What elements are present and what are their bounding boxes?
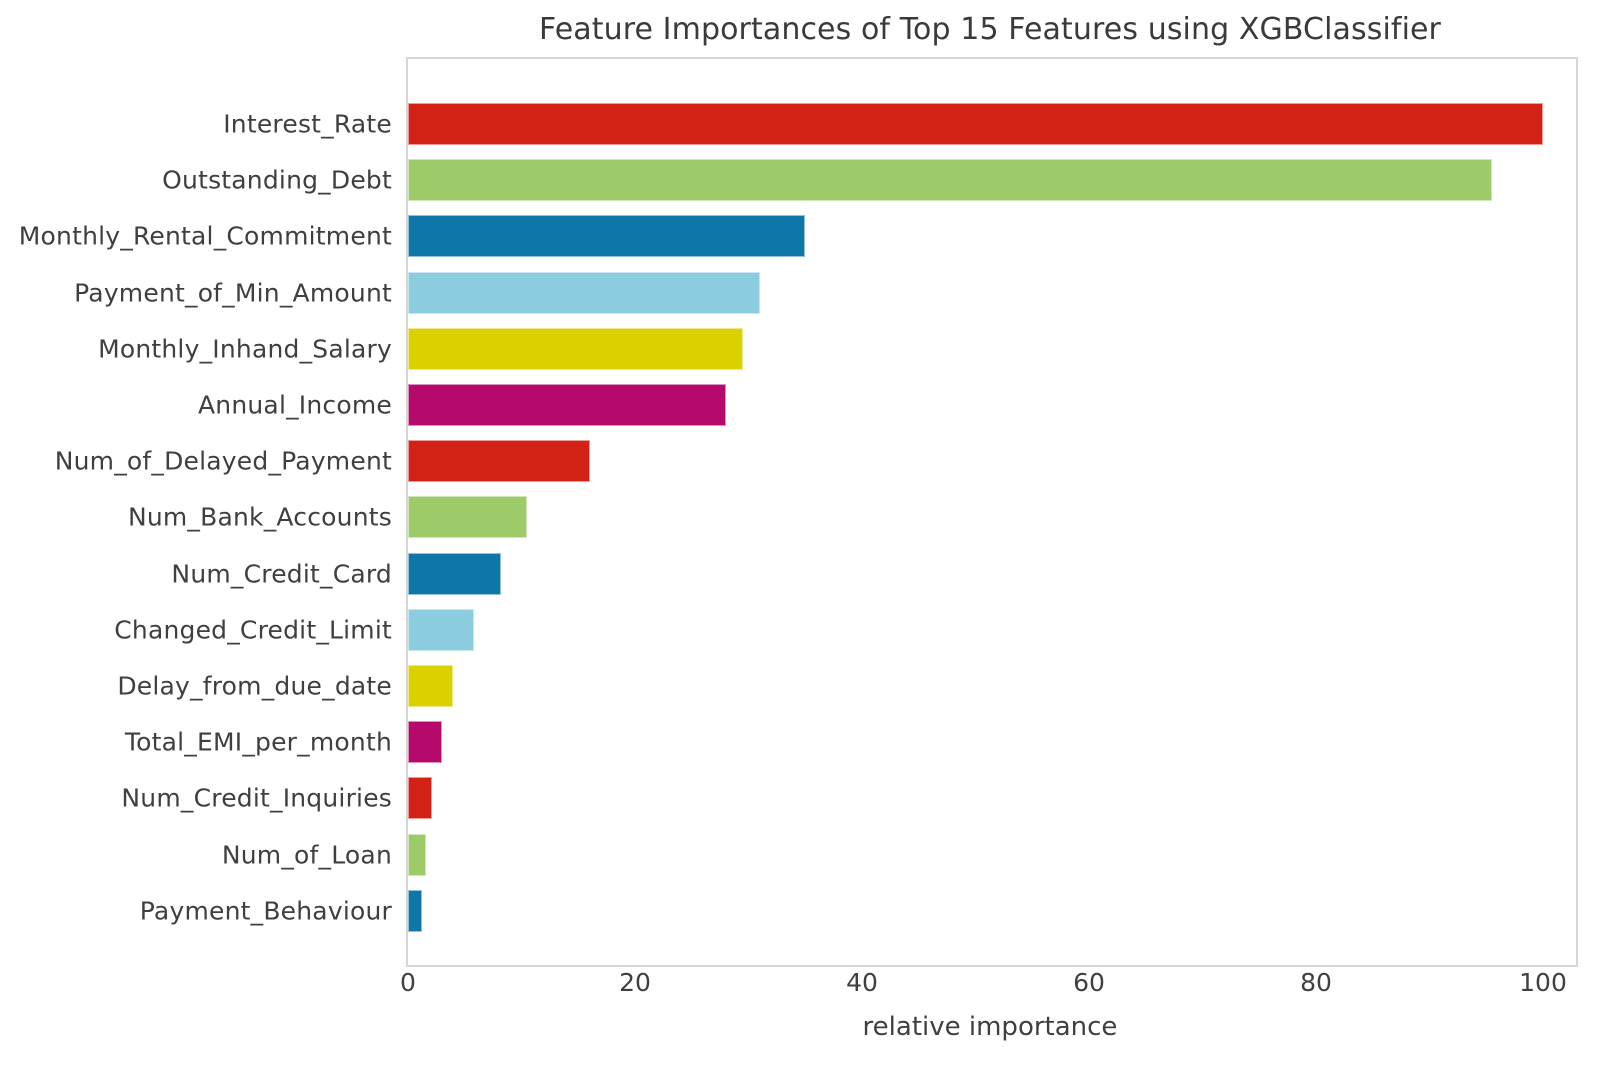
y-axis-tick-label: Interest_Rate (223, 110, 392, 139)
bar (408, 721, 442, 763)
bar (408, 384, 726, 426)
bar (408, 328, 743, 370)
x-axis-tick-label: 80 (1300, 968, 1332, 997)
y-axis-tick-label: Num_Credit_Inquiries (121, 784, 392, 813)
x-axis-label-text: relative importance (863, 1012, 1118, 1042)
y-axis-tick-label: Num_of_Loan (222, 840, 392, 869)
bar-row: Num_Credit_Card (0, 546, 1580, 602)
y-axis-tick-label: Num_of_Delayed_Payment (55, 447, 392, 476)
bar-row: Payment_Behaviour (0, 883, 1580, 939)
y-axis-tick-label: Outstanding_Debt (162, 166, 392, 195)
y-axis-tick-label: Payment_Behaviour (140, 896, 392, 925)
bar (408, 553, 501, 595)
x-axis-tick-label: 20 (619, 968, 651, 997)
bar (408, 103, 1543, 145)
x-axis-ticks: 020406080100 (0, 968, 1600, 1008)
y-axis-tick-label: Num_Credit_Card (171, 559, 392, 588)
x-axis-tick-label: 0 (400, 968, 416, 997)
y-axis-tick-label: Payment_of_Min_Amount (74, 278, 392, 307)
bar (408, 272, 760, 314)
y-axis-tick-label: Num_Bank_Accounts (128, 503, 392, 532)
y-axis-tick-label: Monthly_Inhand_Salary (98, 334, 392, 363)
bar (408, 215, 805, 257)
bar (408, 609, 474, 651)
bar-row: Annual_Income (0, 377, 1580, 433)
bar (408, 496, 527, 538)
y-axis-tick-label: Monthly_Rental_Commitment (19, 222, 392, 251)
bar-row: Num_of_Loan (0, 827, 1580, 883)
bar (408, 665, 453, 707)
bar (408, 440, 590, 482)
x-axis-tick-label: 100 (1519, 968, 1567, 997)
bar-row: Changed_Credit_Limit (0, 602, 1580, 658)
bar-row: Payment_of_Min_Amount (0, 265, 1580, 321)
x-axis-label: relative importance (0, 1012, 1600, 1042)
bar-row: Monthly_Inhand_Salary (0, 321, 1580, 377)
x-axis-tick-label: 60 (1073, 968, 1105, 997)
bar-row: Num_Bank_Accounts (0, 489, 1580, 545)
y-axis-tick-label: Changed_Credit_Limit (114, 615, 392, 644)
x-axis-tick-label: 40 (846, 968, 878, 997)
bar-rows: Interest_RateOutstanding_DebtMonthly_Ren… (0, 57, 1580, 967)
chart-page: Feature Importances of Top 15 Features u… (0, 0, 1600, 1085)
y-axis-tick-label: Total_EMI_per_month (125, 728, 392, 757)
y-axis-tick-label: Delay_from_due_date (117, 672, 392, 701)
bar-row: Outstanding_Debt (0, 152, 1580, 208)
chart-title-text: Feature Importances of Top 15 Features u… (539, 12, 1441, 47)
bar-row: Num_of_Delayed_Payment (0, 433, 1580, 489)
bar-row: Monthly_Rental_Commitment (0, 208, 1580, 264)
y-axis-tick-label: Annual_Income (198, 391, 392, 420)
bar-row: Num_Credit_Inquiries (0, 770, 1580, 826)
bar (408, 890, 422, 932)
bar-row: Interest_Rate (0, 96, 1580, 152)
bar-row: Delay_from_due_date (0, 658, 1580, 714)
bar-row: Total_EMI_per_month (0, 714, 1580, 770)
bar (408, 159, 1492, 201)
bar (408, 777, 432, 819)
chart-title: Feature Importances of Top 15 Features u… (0, 12, 1600, 47)
bar (408, 834, 426, 876)
